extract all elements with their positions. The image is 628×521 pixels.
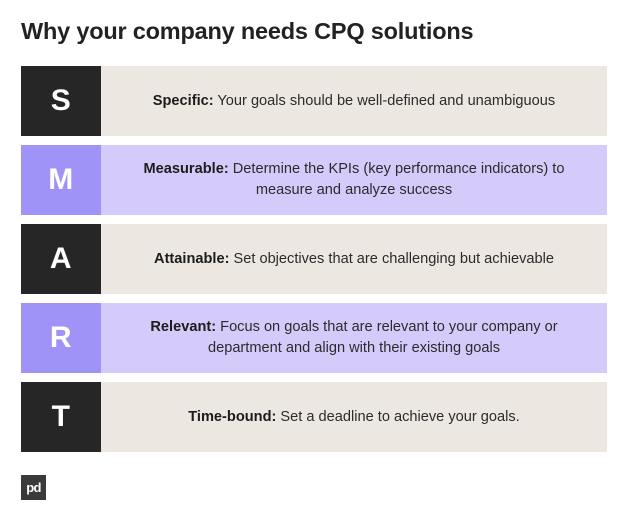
row-description: Focus on goals that are relevant to your… [208, 319, 558, 356]
letter-badge-text: A [50, 244, 72, 274]
row-description: Set objectives that are challenging but … [229, 251, 554, 267]
row-lead-label: Time-bound: [188, 409, 276, 425]
letter-badge-m: M [21, 145, 101, 215]
smart-goals-infographic: Why your company needs CPQ solutions S S… [0, 0, 628, 521]
row-lead-label: Specific: [153, 93, 214, 109]
row-text: Attainable: Set objectives that are chal… [154, 249, 554, 270]
page-title: Why your company needs CPQ solutions [21, 16, 611, 46]
smart-rows-list: S Specific: Your goals should be well-de… [21, 66, 607, 452]
row-body-time-bound: Time-bound: Set a deadline to achieve yo… [101, 382, 607, 452]
letter-badge-s: S [21, 66, 101, 136]
row-text: Relevant: Focus on goals that are releva… [124, 317, 584, 359]
row-body-relevant: Relevant: Focus on goals that are releva… [101, 303, 607, 373]
smart-row-time-bound: T Time-bound: Set a deadline to achieve … [21, 382, 607, 452]
row-lead-label: Relevant: [150, 319, 216, 335]
row-body-specific: Specific: Your goals should be well-defi… [101, 66, 607, 136]
row-body-measurable: Measurable: Determine the KPIs (key perf… [101, 145, 607, 215]
letter-badge-text: M [48, 165, 74, 195]
row-lead-label: Attainable: [154, 251, 229, 267]
row-lead-label: Measurable: [144, 161, 229, 177]
letter-badge-text: S [51, 86, 72, 116]
row-description: Determine the KPIs (key performance indi… [229, 161, 565, 198]
pandadoc-logo-icon: pd [21, 475, 46, 500]
row-description: Set a deadline to achieve your goals. [276, 409, 519, 425]
letter-badge-a: A [21, 224, 101, 294]
smart-row-specific: S Specific: Your goals should be well-de… [21, 66, 607, 136]
row-text: Measurable: Determine the KPIs (key perf… [124, 159, 584, 201]
row-text: Time-bound: Set a deadline to achieve yo… [188, 407, 520, 428]
row-description: Your goals should be well-defined and un… [214, 93, 556, 109]
smart-row-relevant: R Relevant: Focus on goals that are rele… [21, 303, 607, 373]
letter-badge-text: T [52, 402, 71, 432]
row-text: Specific: Your goals should be well-defi… [153, 91, 555, 112]
letter-badge-t: T [21, 382, 101, 452]
smart-row-measurable: M Measurable: Determine the KPIs (key pe… [21, 145, 607, 215]
pandadoc-logo-text: pd [26, 481, 40, 494]
letter-badge-r: R [21, 303, 101, 373]
smart-row-attainable: A Attainable: Set objectives that are ch… [21, 224, 607, 294]
row-body-attainable: Attainable: Set objectives that are chal… [101, 224, 607, 294]
letter-badge-text: R [50, 323, 72, 353]
